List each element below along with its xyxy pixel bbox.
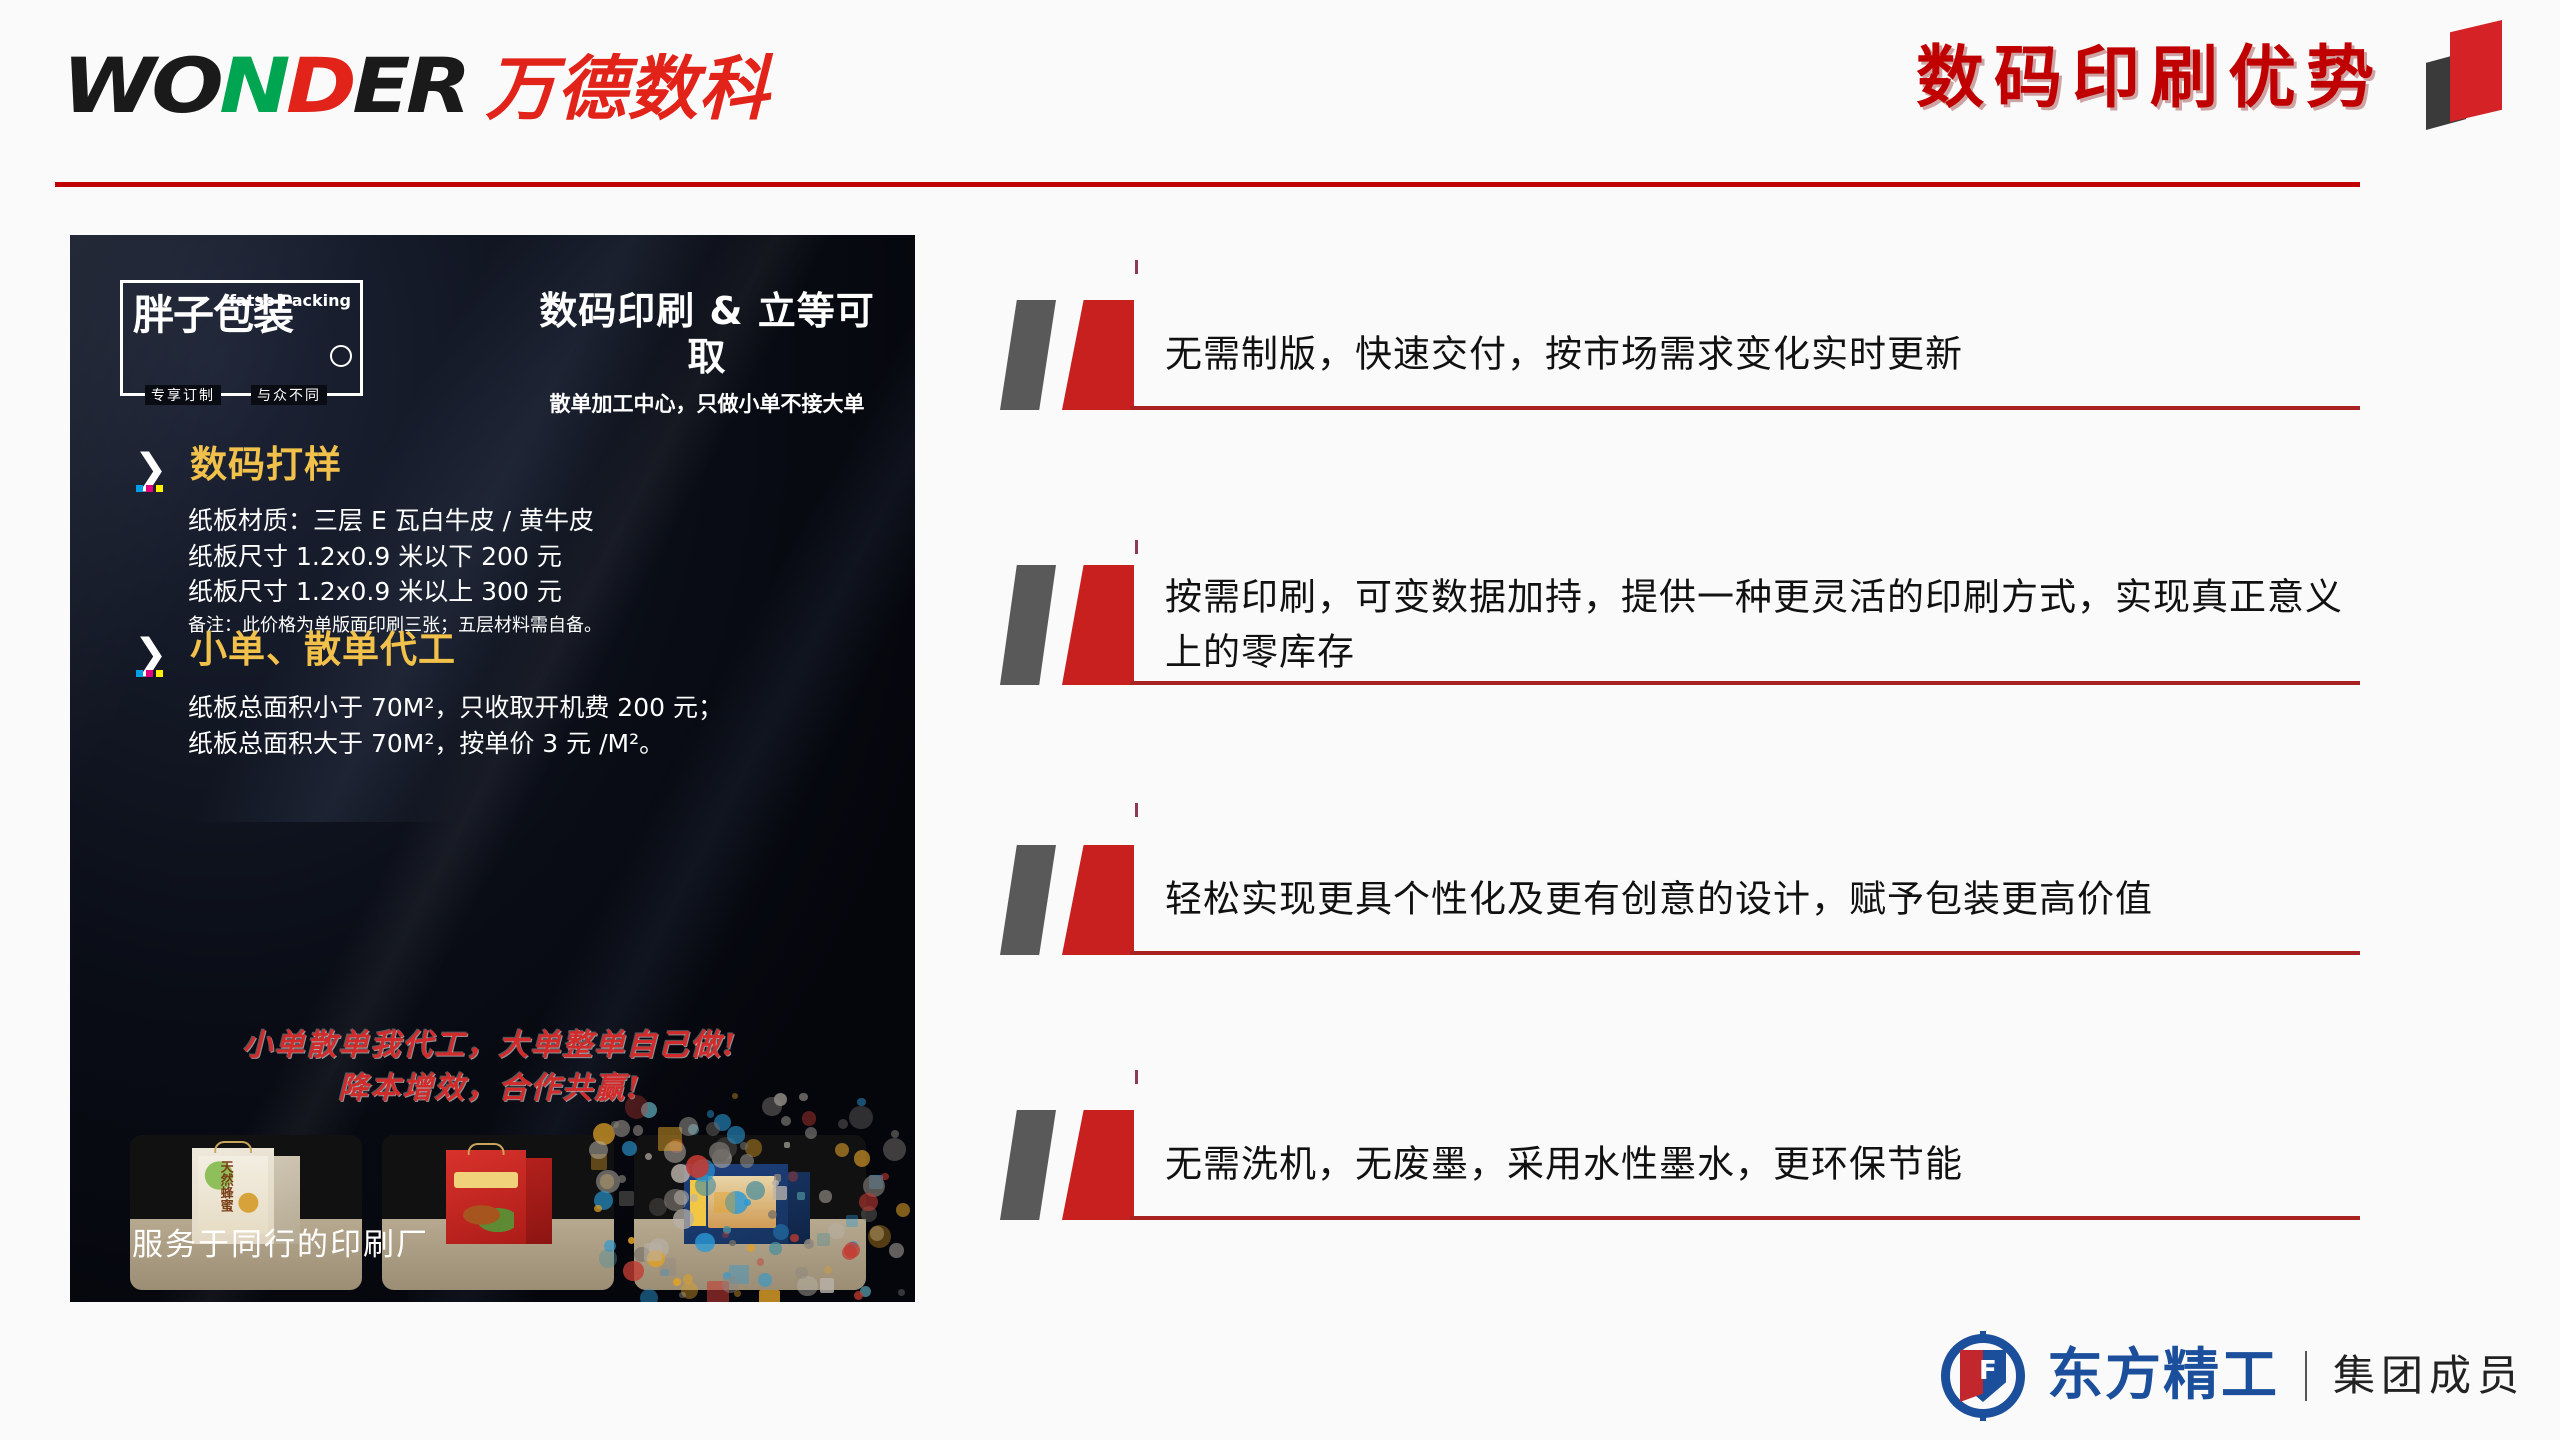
poster-section-1-lines: 纸板材质：三层 E 瓦白牛皮 / 黄牛皮 纸板尺寸 1.2x0.9 米以下 20… (188, 503, 602, 639)
chevron-right-icon: ❯ (132, 637, 188, 677)
corner-red-shape (2450, 20, 2502, 122)
bokeh-dot (618, 1175, 626, 1183)
bokeh-dot (854, 1291, 863, 1300)
bokeh-dot (645, 1153, 652, 1160)
bokeh-dot (740, 1142, 748, 1150)
bokeh-dot (849, 1106, 873, 1130)
bokeh-dot (819, 1190, 831, 1202)
bokeh-dot (868, 1225, 891, 1248)
bokeh-dot (788, 1171, 798, 1181)
bokeh-dot (859, 1193, 877, 1211)
chevron-right-icon: ❯ (132, 452, 188, 492)
poster-panel: 胖子包装 fatso Packing 专享订制 与众不同 数码印刷 & 立等可取… (70, 235, 915, 1302)
poster-tagline-right: 与众不同 (251, 385, 327, 405)
bokeh-dot (759, 1290, 779, 1302)
bokeh-dot (790, 1234, 799, 1243)
bullet-underline (1130, 681, 2360, 685)
header-divider (55, 182, 2360, 187)
bullet-red-bar-icon (1062, 845, 1134, 955)
bokeh-dot (658, 1127, 681, 1150)
chevron-glyph: ❯ (134, 637, 168, 671)
bullet-text-3: 轻松实现更具个性化及更有创意的设计，赋予包装更高价值 (1165, 873, 2153, 928)
bokeh-dot (835, 1143, 849, 1157)
bullet-gray-bar-icon (1000, 1110, 1056, 1220)
tick-mark-icon (1135, 260, 1138, 274)
bokeh-dot (727, 1126, 744, 1143)
bokeh-dot (774, 1093, 787, 1106)
bullet-item-1: 无需制版，快速交付，按市场需求变化实时更新 (1000, 300, 2360, 410)
bokeh-dot (758, 1273, 772, 1287)
dot-magenta-icon (146, 670, 153, 677)
poster-section-1-title: 数码打样 (190, 446, 342, 483)
bokeh-dot (804, 1239, 814, 1249)
bokeh-dot (690, 1194, 698, 1202)
box-artwork (460, 1198, 514, 1232)
poster-line: 纸板尺寸 1.2x0.9 米以上 300 元 (188, 574, 602, 610)
bokeh-dot (799, 1093, 807, 1101)
bullet-item-3: 轻松实现更具个性化及更有创意的设计，赋予包装更高价值 (1000, 845, 2360, 955)
bokeh-dot (797, 1192, 805, 1200)
bullet-gray-bar-icon (1000, 565, 1056, 685)
bokeh-dot (673, 1278, 681, 1286)
bokeh-dot (722, 1232, 728, 1238)
footer-member-label: 集团成员 (2333, 1355, 2525, 1397)
product-photo-1: 天然蜂蜜 (130, 1135, 362, 1290)
poster-line: 纸板总面积小于 70M²，只收取开机费 200 元； (188, 690, 723, 726)
bokeh-dot (594, 1205, 602, 1213)
bokeh-dot (781, 1116, 791, 1126)
bokeh-dot (768, 1210, 777, 1219)
bullet-gray-bar-icon (1000, 300, 1056, 410)
bokeh-dot (628, 1237, 636, 1245)
bokeh-dot (891, 1130, 899, 1138)
bullet-text-1: 无需制版，快速交付，按市场需求变化实时更新 (1165, 328, 1963, 383)
bokeh-dot (824, 1266, 832, 1274)
logo-chinese-name: 万德数科 (486, 54, 770, 124)
poster-line: 纸板总面积大于 70M²，按单价 3 元 /M²。 (188, 726, 723, 762)
bullet-underline (1130, 1216, 2360, 1220)
box-caption: 天然蜂蜜 (218, 1160, 232, 1212)
bullet-red-bar-icon (1062, 1110, 1134, 1220)
dot-cyan-icon (136, 670, 143, 677)
bullet-text-4: 无需洗机，无废墨，采用水性墨水，更环保节能 (1165, 1138, 1963, 1193)
corner-decoration-icon (2420, 0, 2540, 140)
bokeh-dot (805, 1127, 817, 1139)
poster-brand-seal-icon (330, 345, 352, 367)
dot-cyan-icon (136, 485, 143, 492)
poster-tagline-left: 专享订制 (145, 385, 221, 405)
bokeh-dot (686, 1155, 709, 1178)
poster-brand-en: fatso Packing (229, 293, 351, 309)
poster-line: 纸板材质：三层 E 瓦白牛皮 / 黄牛皮 (188, 503, 602, 539)
bokeh-dot (846, 1215, 858, 1227)
chevron-glyph: ❯ (134, 452, 168, 486)
poster-subheadline: 散单加工中心，只做小单不接大单 (522, 388, 892, 418)
box-label-band (454, 1172, 518, 1188)
bullet-underline (1130, 406, 2360, 410)
bokeh-dot (889, 1243, 903, 1257)
bokeh-dot (769, 1242, 781, 1254)
emblem-tick-top (1980, 1331, 1986, 1343)
bokeh-dot (817, 1233, 830, 1246)
bokeh-dot (622, 1141, 637, 1156)
bokeh-decoration (585, 1092, 915, 1302)
poster-brand-box: 胖子包装 fatso Packing 专享订制 与众不同 (120, 280, 363, 396)
bullet-underline (1130, 951, 2360, 955)
poster-slogan-line-1: 小单散单我代工，大单整单自己做! (140, 1025, 840, 1068)
bokeh-dot (596, 1170, 619, 1193)
footer-divider (2305, 1351, 2307, 1401)
poster-section-2-lines: 纸板总面积小于 70M²，只收取开机费 200 元； 纸板总面积大于 70M²，… (188, 690, 723, 761)
bokeh-dot (828, 1223, 845, 1240)
bokeh-dot (896, 1203, 910, 1217)
bokeh-dot (744, 1199, 751, 1206)
bokeh-dot (625, 1095, 649, 1119)
bokeh-dot (773, 1186, 787, 1200)
bokeh-dot (611, 1121, 619, 1129)
bokeh-dot (898, 1289, 906, 1297)
bullet-red-bar-icon (1062, 300, 1134, 410)
bokeh-dot (757, 1258, 764, 1265)
bokeh-dot (883, 1138, 906, 1161)
bokeh-dot (795, 1267, 807, 1279)
poster-footer-text: 服务于同行的印刷厂 (132, 1219, 429, 1264)
bullet-item-2: 按需印刷，可变数据加持，提供一种更灵活的印刷方式，实现真正意义上的零库存 (1000, 565, 2360, 685)
footer-company-name: 东方精工 (2047, 1348, 2279, 1404)
dot-magenta-icon (146, 485, 153, 492)
bokeh-dot (732, 1093, 738, 1099)
bokeh-dot (784, 1142, 790, 1148)
box-side (526, 1158, 552, 1244)
bokeh-dot (747, 1244, 755, 1252)
tick-mark-icon (1135, 540, 1138, 554)
bokeh-dot (619, 1191, 633, 1205)
bullet-text-2: 按需印刷，可变数据加持，提供一种更灵活的印刷方式，实现真正意义上的零库存 (1165, 570, 2345, 680)
logo-wordmark: WONDER (62, 48, 467, 124)
bokeh-dot (842, 1245, 857, 1260)
bokeh-dot (707, 1110, 715, 1118)
bokeh-dot (838, 1119, 848, 1129)
bokeh-dot (729, 1240, 735, 1246)
box-handle-icon (214, 1141, 252, 1153)
bokeh-dot (746, 1181, 766, 1201)
bokeh-dot (640, 1289, 658, 1302)
page-title: 数码印刷优势 (1916, 38, 2384, 120)
poster-headline: 数码印刷 & 立等可取 (522, 289, 892, 380)
bokeh-dot (714, 1192, 735, 1213)
bokeh-dot (740, 1154, 754, 1168)
bokeh-dot (854, 1150, 870, 1166)
bokeh-dot (644, 1243, 662, 1261)
bokeh-dot (802, 1111, 816, 1125)
tick-mark-icon (1135, 1070, 1138, 1084)
bullet-item-4: 无需洗机，无废墨，采用水性墨水，更环保节能 (1000, 1110, 2360, 1220)
poster-line: 纸板尺寸 1.2x0.9 米以下 200 元 (188, 539, 602, 575)
group-emblem-icon: F (1941, 1334, 2025, 1418)
bokeh-dot (599, 1249, 617, 1267)
bokeh-dot (857, 1098, 865, 1106)
bullet-red-bar-icon (1062, 565, 1134, 685)
poster-brand-cn-text: 胖子 (133, 291, 213, 339)
emblem-tick-bottom (1980, 1409, 1986, 1421)
bokeh-dot (881, 1173, 889, 1181)
footer-group-logo: F 东方精工 集团成员 (1941, 1334, 2525, 1418)
bokeh-dot (673, 1209, 693, 1229)
bokeh-dot (706, 1122, 720, 1136)
bullet-gray-bar-icon (1000, 845, 1056, 955)
dot-yellow-icon (156, 485, 163, 492)
slide-root: WONDER 万德数科 数码印刷优势 胖子包装 fatso Packing 专享… (0, 0, 2560, 1440)
emblem-letter-f: F (1979, 1358, 1997, 1384)
bokeh-dot (679, 1292, 685, 1298)
bokeh-dot (664, 1189, 686, 1211)
bokeh-dot (589, 1141, 607, 1159)
bokeh-dot (633, 1125, 643, 1135)
product-photo-2 (382, 1135, 614, 1290)
bokeh-dot (820, 1278, 834, 1292)
dot-yellow-icon (156, 670, 163, 677)
bokeh-dot (773, 1224, 789, 1240)
poster-headline-block: 数码印刷 & 立等可取 散单加工中心，只做小单不接大单 (522, 289, 892, 418)
box-front (446, 1150, 526, 1244)
bokeh-dot (623, 1261, 643, 1281)
bokeh-dot (722, 1276, 738, 1292)
bokeh-dot (709, 1142, 729, 1162)
poster-section-2-title: 小单、散单代工 (190, 631, 456, 668)
company-logo: WONDER 万德数科 (62, 48, 770, 124)
bokeh-dot (695, 1233, 715, 1253)
box-handle-icon (468, 1143, 505, 1155)
tick-mark-icon (1135, 803, 1138, 817)
